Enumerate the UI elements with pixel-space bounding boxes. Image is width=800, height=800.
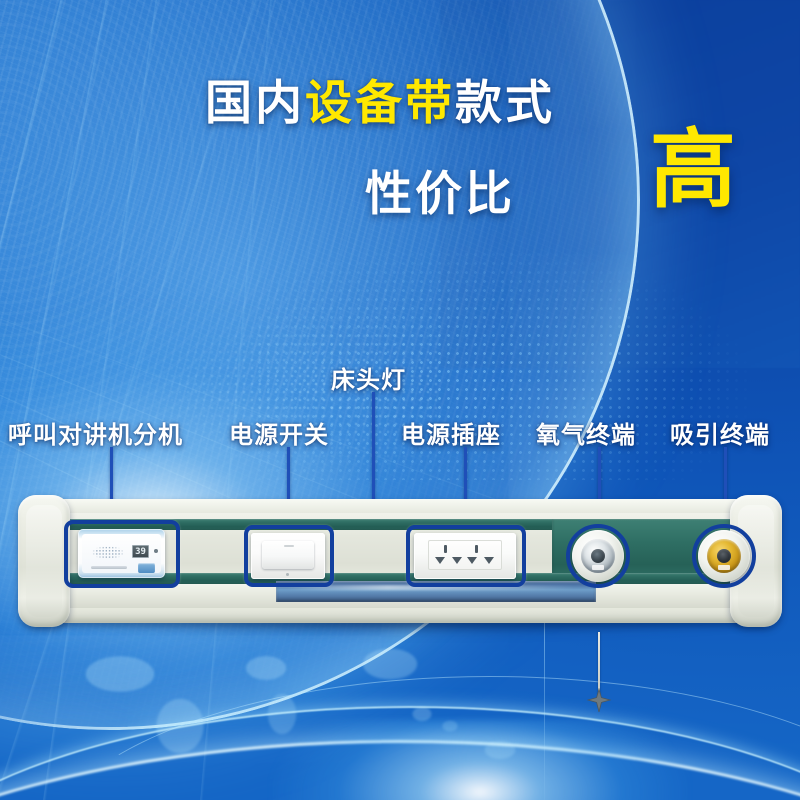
headline-line-2: 性价比 高 [0, 149, 800, 235]
bottom-background-zone [0, 620, 800, 800]
panel-end-cap-left [18, 495, 70, 627]
headline-line-1: 国内设备带款式 [0, 78, 800, 127]
vertical-light-line [544, 620, 545, 800]
pull-cord[interactable] [598, 632, 600, 694]
callout-label-bedlamp: 床头灯 [331, 360, 406, 395]
panel-top-bevel [24, 499, 776, 513]
horizon-bloom-glow [270, 720, 690, 800]
panel-end-cap-left-inner [26, 505, 62, 617]
highlight-box-intercom [64, 520, 180, 588]
headline-line1-part3: 款式 [455, 76, 555, 129]
headline-block: 国内设备带款式 性价比 高 [0, 78, 800, 235]
callout-label-switch: 电源开关 [229, 415, 329, 450]
headline-line1-part1: 国内 [205, 76, 305, 129]
highlight-circle-oxygen [566, 524, 630, 588]
callout-label-socket: 电源插座 [401, 415, 501, 450]
headline-line1-part2: 设备带 [305, 76, 455, 129]
poster-canvas: 国内设备带款式 性价比 高 呼叫对讲机分机 电源开关 床头灯 电源插座 氧气终端… [0, 0, 800, 800]
highlight-box-socket [406, 525, 526, 587]
callout-label-suction: 吸引终端 [670, 415, 770, 450]
callout-label-oxygen: 氧气终端 [536, 415, 636, 450]
highlight-circle-suction [692, 524, 756, 588]
headline-line2-part2: 高 [650, 127, 736, 213]
headline-line2-part1: 性价比 [365, 155, 515, 224]
cord-hook-icon [586, 688, 612, 714]
callout-label-intercom: 呼叫对讲机分机 [8, 415, 183, 450]
highlight-box-switch [244, 525, 334, 587]
